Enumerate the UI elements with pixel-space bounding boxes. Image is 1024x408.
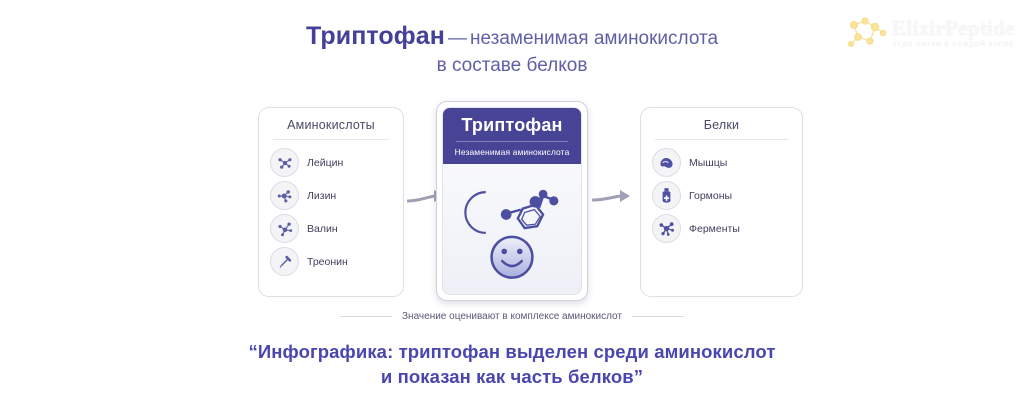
moon-icon	[465, 192, 485, 233]
list-item-label: Гормоны	[689, 190, 732, 202]
arrow-tryptophan-to-proteins	[592, 187, 634, 209]
tryptophan-illustration	[443, 164, 581, 294]
dropper-icon	[270, 247, 299, 276]
list-item-label: Лейцин	[307, 157, 343, 169]
protein-list: Мышцы Гормоны	[641, 146, 802, 245]
amino-acid-list: Лейцин	[259, 146, 403, 278]
panel-proteins: Белки Мышцы	[640, 107, 803, 297]
list-item-label: Лизин	[307, 190, 336, 202]
title-second-line: в составе белков	[0, 52, 1024, 81]
medicine-bottle-icon	[652, 181, 681, 210]
smiley-face-icon	[492, 237, 533, 278]
panel-tryptophan: Триптофан Незаменимая аминокислота	[436, 101, 588, 301]
panel-proteins-title: Белки	[641, 108, 802, 139]
list-item[interactable]: Валин	[270, 212, 403, 245]
caption-line-1: “Инфографика: триптофан выделен среди ам…	[0, 340, 1024, 365]
benzene-molecule-icon	[501, 190, 558, 228]
list-item[interactable]: Лейцин	[270, 146, 403, 179]
list-item-label: Мышцы	[689, 157, 727, 169]
list-item[interactable]: Гормоны	[652, 179, 802, 212]
caption-line-2: и показан как часть белков”	[0, 365, 1024, 390]
divider	[655, 139, 788, 140]
list-item[interactable]: Треонин	[270, 245, 403, 278]
panels-row: Аминокислоты	[258, 107, 803, 303]
title-dash: —	[445, 28, 470, 49]
tryptophan-header: Триптофан Незаменимая аминокислота	[443, 108, 581, 164]
footnote: Значение оценивают в комплексе аминокисл…	[0, 311, 1024, 322]
bicep-icon	[652, 148, 681, 177]
tryptophan-subtitle: Незаменимая аминокислота	[449, 147, 575, 157]
footnote-text: Значение оценивают в комплексе аминокисл…	[402, 311, 622, 322]
infographic-canvas: ElixirPeptide ЧУДО НАУКИ В КАЖДОЙ КАПЛЕ …	[0, 0, 1024, 408]
list-item-label: Валин	[307, 223, 338, 235]
molecule-icon	[270, 148, 299, 177]
panel-amino-acids-title: Аминокислоты	[259, 108, 403, 139]
divider	[273, 139, 389, 140]
list-item[interactable]: Ферменты	[652, 212, 802, 245]
molecule-icon	[270, 181, 299, 210]
page-title: Триптофан—незаменимая аминокислота в сос…	[0, 22, 1024, 80]
list-item[interactable]: Мышцы	[652, 146, 802, 179]
list-item-label: Треонин	[307, 256, 348, 268]
tryptophan-title: Триптофан	[449, 116, 575, 135]
divider	[456, 141, 568, 142]
title-remainder: незаменимая аминокислота	[470, 28, 718, 49]
caption: “Инфографика: триптофан выделен среди ам…	[0, 340, 1024, 390]
list-item-label: Ферменты	[689, 223, 740, 235]
enzyme-molecule-icon	[652, 214, 681, 243]
molecule-icon	[270, 214, 299, 243]
panel-amino-acids: Аминокислоты	[258, 107, 404, 297]
footnote-rule-right	[632, 316, 684, 317]
title-keyword: Триптофан	[306, 22, 445, 50]
footnote-rule-left	[340, 316, 392, 317]
list-item[interactable]: Лизин	[270, 179, 403, 212]
